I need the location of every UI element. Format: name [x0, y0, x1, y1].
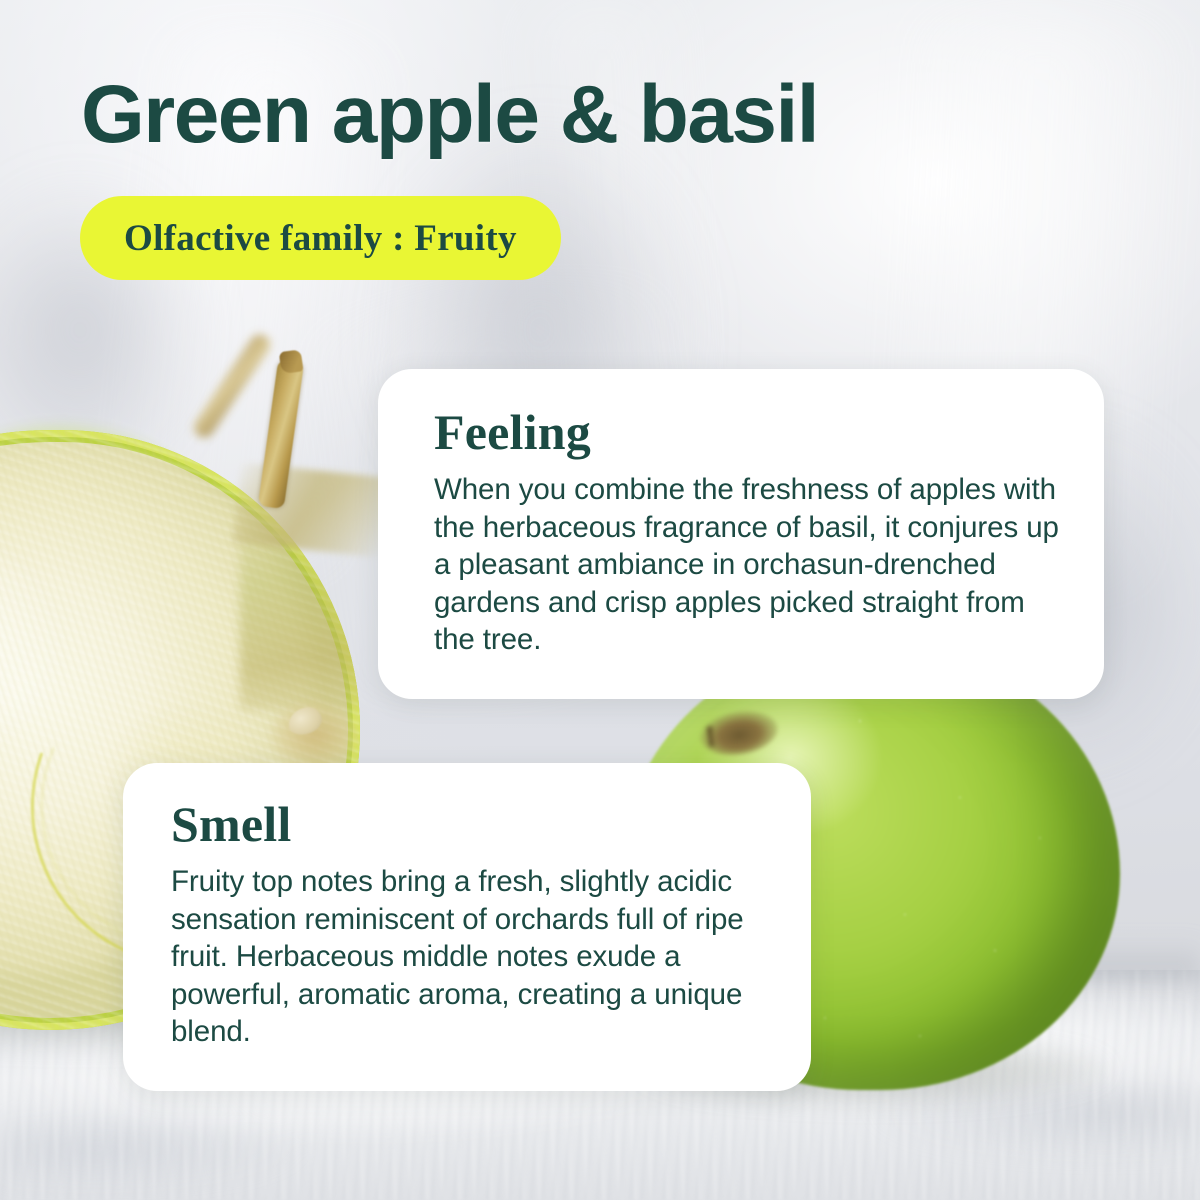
olfactive-family-badge-label: Olfactive family : Fruity — [124, 220, 517, 257]
feeling-card: Feeling When you combine the freshness o… — [378, 369, 1104, 699]
fragrance-poster: Green apple & basil Olfactive family : F… — [0, 0, 1200, 1200]
page-title: Green apple & basil — [81, 73, 818, 157]
olfactive-family-badge: Olfactive family : Fruity — [80, 196, 561, 280]
smell-card: Smell Fruity top notes bring a fresh, sl… — [123, 763, 811, 1091]
feeling-card-heading: Feeling — [434, 403, 1060, 461]
apple-stem-base — [232, 462, 390, 557]
smell-card-body: Fruity top notes bring a fresh, slightly… — [171, 863, 767, 1051]
smell-card-heading: Smell — [171, 795, 767, 853]
feeling-card-body: When you combine the freshness of apples… — [434, 471, 1060, 659]
